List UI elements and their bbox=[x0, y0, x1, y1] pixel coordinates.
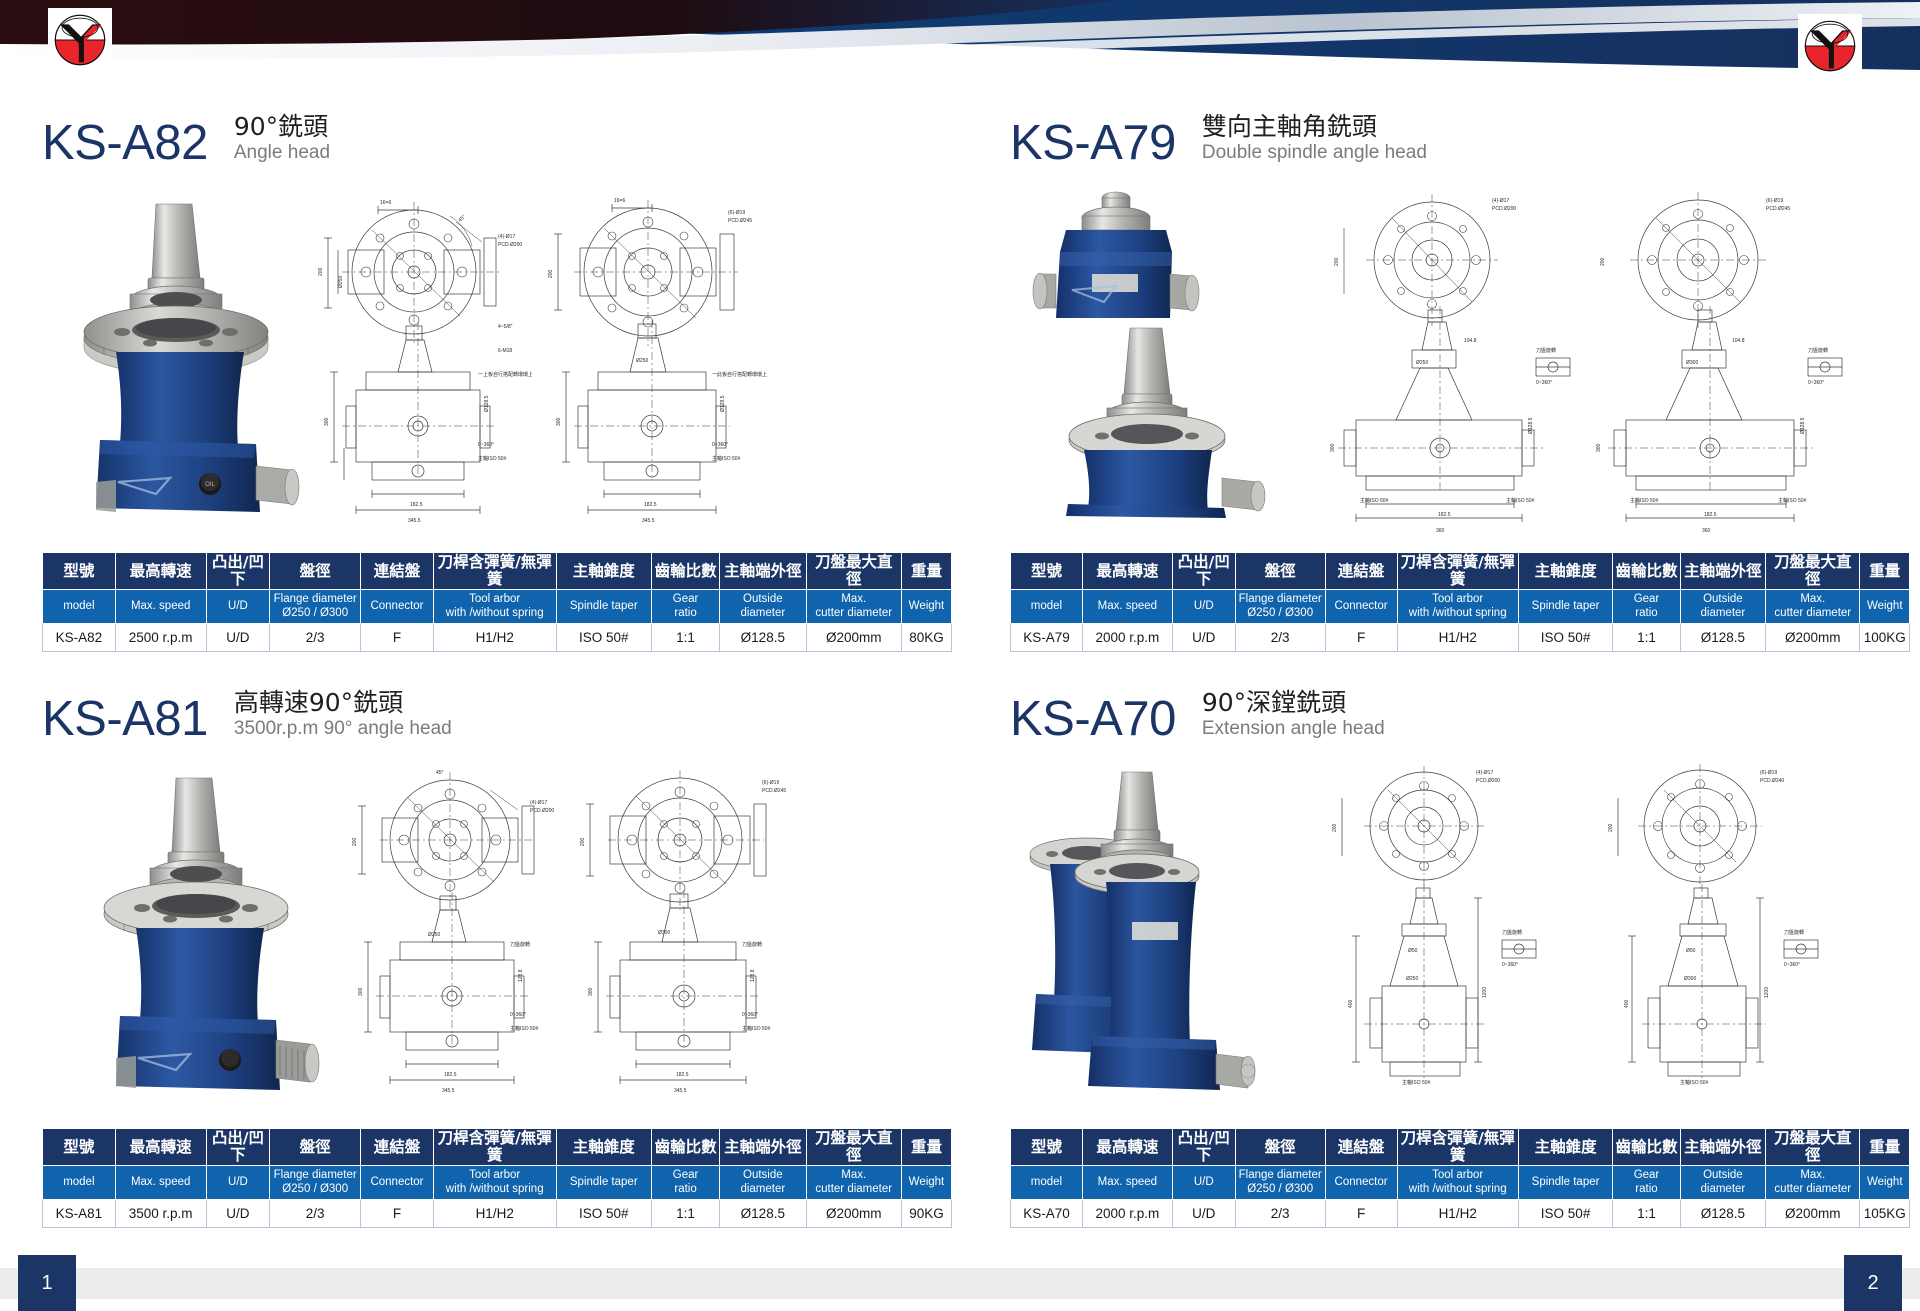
cell-weight: 80KG bbox=[901, 624, 951, 652]
ks-a79-section-view-drawing: (6)-Ø19 PCD.Ø245 200 182.5 360 300 Ø128.… bbox=[1570, 172, 1850, 547]
ks-a81-product-photo bbox=[82, 760, 322, 1105]
footer-grey-band bbox=[0, 1268, 1920, 1299]
cell-model: KS-A79 bbox=[1011, 624, 1083, 652]
company-logo-left bbox=[48, 8, 112, 72]
th-cn-speed: 最高轉速 bbox=[1082, 1129, 1172, 1166]
svg-text:主軸ISO 50#: 主軸ISO 50# bbox=[1360, 497, 1389, 504]
company-logo-right bbox=[1798, 14, 1862, 78]
th-cn-taper: 主軸錐度 bbox=[1518, 1129, 1612, 1166]
svg-text:104.8: 104.8 bbox=[1464, 338, 1477, 344]
th-cn-weight: 重量 bbox=[1860, 553, 1910, 590]
th-cn-gear: 齒輪比數 bbox=[651, 553, 719, 590]
spec-table-ks-a79: 型號 最高轉速 凸出/凹下 盤徑 連結盤 刀桿含彈簧/無彈簧 主軸錐度 齒輪比數… bbox=[1010, 552, 1910, 652]
th-cn-model: 型號 bbox=[1011, 553, 1083, 590]
svg-text:0~360°: 0~360° bbox=[510, 1012, 526, 1018]
svg-text:刀盤旋轉: 刀盤旋轉 bbox=[1536, 347, 1556, 354]
svg-text:200: 200 bbox=[1600, 257, 1606, 266]
svg-text:128.8: 128.8 bbox=[750, 969, 756, 982]
svg-text:0~360°: 0~360° bbox=[1536, 380, 1552, 386]
svg-text:Ø300: Ø300 bbox=[658, 930, 670, 936]
th-cn-ud: 凸出/凹下 bbox=[206, 1129, 270, 1166]
th-en-weight: Weight bbox=[901, 1166, 951, 1200]
th-en-flange: Flange diameterØ250 / Ø300 bbox=[1235, 1166, 1325, 1200]
th-en-cutter: Max.cutter diameter bbox=[1766, 590, 1860, 624]
svg-text:主軸ISO 50#: 主軸ISO 50# bbox=[742, 1025, 771, 1032]
catalog-sheet: KS-A82 90°銑頭 Angle head bbox=[0, 78, 1920, 1255]
cell-arbor: H1/H2 bbox=[433, 624, 556, 652]
title-chinese: 雙向主軸角銑頭 bbox=[1202, 112, 1427, 142]
th-en-cutter: Max.cutter diameter bbox=[806, 1166, 901, 1200]
svg-text:Ø250: Ø250 bbox=[428, 932, 440, 938]
th-en-conn: Connector bbox=[1325, 1166, 1397, 1200]
ks-a79-top-view-drawing: (4)-Ø17 PCD.Ø200 200 182.5 360 300 Ø128.… bbox=[1300, 172, 1580, 547]
cell-gear: 1:1 bbox=[1613, 624, 1680, 652]
svg-text:0~360°: 0~360° bbox=[478, 442, 494, 448]
svg-text:Ø128.5: Ø128.5 bbox=[1528, 417, 1534, 434]
th-cn-flange: 盤徑 bbox=[270, 553, 361, 590]
th-en-ud: U/D bbox=[206, 590, 270, 624]
svg-text:(6)-Ø19: (6)-Ø19 bbox=[1760, 770, 1777, 776]
svg-text:300: 300 bbox=[1596, 443, 1602, 452]
svg-text:Ø300: Ø300 bbox=[1684, 976, 1696, 982]
svg-text:Ø128.5: Ø128.5 bbox=[720, 395, 726, 412]
th-en-speed: Max. speed bbox=[115, 1166, 206, 1200]
svg-text:16=6: 16=6 bbox=[614, 198, 625, 204]
th-en-cutter: Max.cutter diameter bbox=[806, 590, 901, 624]
title-english: Double spindle angle head bbox=[1202, 142, 1427, 165]
th-cn-gear: 齒輪比數 bbox=[1613, 553, 1680, 590]
cell-cutter: Ø200mm bbox=[806, 1200, 901, 1228]
th-cn-outside: 主軸端外徑 bbox=[1680, 1129, 1765, 1166]
svg-text:Ø300: Ø300 bbox=[1686, 360, 1698, 366]
svg-text:200: 200 bbox=[1334, 257, 1340, 266]
cell-outside: Ø128.5 bbox=[1680, 1200, 1765, 1228]
title-chinese: 90°深鏜銑頭 bbox=[1202, 688, 1385, 718]
th-cn-conn: 連結盤 bbox=[1325, 553, 1397, 590]
svg-text:400: 400 bbox=[1348, 999, 1354, 1008]
product-title-ks-a82: KS-A82 90°銑頭 Angle head bbox=[42, 92, 952, 168]
th-cn-cutter: 刀盤最大直徑 bbox=[1766, 553, 1860, 590]
svg-text:200: 200 bbox=[1608, 823, 1614, 832]
product-block-ks-a81: KS-A81 高轉速90°銑頭 3500r.p.m 90° angle head bbox=[42, 668, 952, 1228]
th-en-outside: Outsidediameter bbox=[720, 590, 806, 624]
svg-text:(4)-Ø17: (4)-Ø17 bbox=[530, 800, 547, 806]
svg-text:刀盤旋轉: 刀盤旋轉 bbox=[1784, 929, 1804, 936]
svg-text:Ø128.5: Ø128.5 bbox=[484, 395, 490, 412]
product-block-ks-a79: KS-A79 雙向主軸角銑頭 Double spindle angle head bbox=[1010, 92, 1910, 652]
svg-text:4~5/8": 4~5/8" bbox=[498, 324, 513, 330]
cell-ud: U/D bbox=[1172, 1200, 1235, 1228]
th-en-speed: Max. speed bbox=[115, 590, 206, 624]
th-en-weight: Weight bbox=[1860, 590, 1910, 624]
title-english: Angle head bbox=[234, 142, 330, 165]
cell-model: KS-A81 bbox=[43, 1200, 116, 1228]
cell-weight: 90KG bbox=[901, 1200, 951, 1228]
svg-text:300: 300 bbox=[358, 987, 364, 996]
cell-arbor: H1/H2 bbox=[433, 1200, 556, 1228]
th-cn-taper: 主軸錐度 bbox=[556, 553, 651, 590]
th-cn-outside: 主軸端外徑 bbox=[720, 1129, 806, 1166]
svg-text:Ø250: Ø250 bbox=[1416, 360, 1428, 366]
cell-gear: 1:1 bbox=[651, 624, 719, 652]
cell-model: KS-A82 bbox=[43, 624, 116, 652]
model-name: KS-A79 bbox=[1010, 119, 1176, 168]
cell-cutter: Ø200mm bbox=[1766, 624, 1860, 652]
table-row: KS-A70 2000 r.p.m U/D 2/3 F H1/H2 ISO 50… bbox=[1011, 1200, 1910, 1228]
ks-a70-section-view-drawing: (6)-Ø19 PCD.Ø240 200 400 1200 刀盤旋轉 0~360… bbox=[1570, 748, 1850, 1123]
th-cn-arbor: 刀桿含彈簧/無彈簧 bbox=[433, 553, 556, 590]
table-header-row-en: model Max. speed U/D Flange diameterØ250… bbox=[1011, 590, 1910, 624]
th-en-outside: Outsidediameter bbox=[1680, 1166, 1765, 1200]
cell-taper: ISO 50# bbox=[556, 1200, 651, 1228]
th-en-ud: U/D bbox=[206, 1166, 270, 1200]
th-cn-gear: 齒輪比數 bbox=[1613, 1129, 1680, 1166]
ks-a82-top-view-drawing: 16=6 (4)-Ø17 PCD.Ø200 45° 200 Ø250 182.5… bbox=[302, 176, 532, 551]
svg-text:一上板自行搭配轉環環上: 一上板自行搭配轉環環上 bbox=[478, 371, 532, 378]
visual-area-ks-a70: (4)-Ø17 PCD.Ø200 200 400 1200 刀盤旋轉 0~360… bbox=[1010, 748, 1910, 1128]
th-cn-ud: 凸出/凹下 bbox=[206, 553, 270, 590]
th-cn-cutter: 刀盤最大直徑 bbox=[1766, 1129, 1860, 1166]
th-en-speed: Max. speed bbox=[1082, 1166, 1172, 1200]
svg-text:182.5: 182.5 bbox=[410, 502, 423, 508]
svg-text:主軸ISO 50#: 主軸ISO 50# bbox=[1778, 497, 1807, 504]
table-row: KS-A82 2500 r.p.m U/D 2/3 F H1/H2 ISO 50… bbox=[43, 624, 952, 652]
model-name: KS-A82 bbox=[42, 119, 208, 168]
svg-text:PCD.Ø240: PCD.Ø240 bbox=[1760, 778, 1784, 784]
cell-outside: Ø128.5 bbox=[1680, 624, 1765, 652]
svg-text:(4)-Ø17: (4)-Ø17 bbox=[498, 234, 515, 240]
cell-cutter: Ø200mm bbox=[1766, 1200, 1860, 1228]
th-en-flange: Flange diameterØ250 / Ø300 bbox=[270, 590, 361, 624]
ks-a81-top-view-drawing: 45° (4)-Ø17 PCD.Ø200 200 182.5 345.5 300… bbox=[332, 748, 572, 1123]
th-en-taper: Spindle taper bbox=[556, 1166, 651, 1200]
svg-text:345.5: 345.5 bbox=[442, 1088, 455, 1094]
cell-arbor: H1/H2 bbox=[1397, 624, 1518, 652]
th-cn-taper: 主軸錐度 bbox=[1518, 553, 1612, 590]
th-cn-taper: 主軸錐度 bbox=[556, 1129, 651, 1166]
svg-text:Ø50: Ø50 bbox=[1408, 948, 1418, 954]
svg-text:182.5: 182.5 bbox=[1438, 512, 1451, 518]
th-en-flange: Flange diameterØ250 / Ø300 bbox=[270, 1166, 361, 1200]
th-en-gear: Gearratio bbox=[1613, 1166, 1680, 1200]
th-en-flange: Flange diameterØ250 / Ø300 bbox=[1235, 590, 1325, 624]
th-cn-ud: 凸出/凹下 bbox=[1172, 1129, 1235, 1166]
cell-speed: 2500 r.p.m bbox=[115, 624, 206, 652]
cell-taper: ISO 50# bbox=[1518, 1200, 1612, 1228]
th-cn-weight: 重量 bbox=[901, 1129, 951, 1166]
th-en-ud: U/D bbox=[1172, 1166, 1235, 1200]
svg-text:(4)-Ø17: (4)-Ø17 bbox=[1476, 770, 1493, 776]
svg-text:182.5: 182.5 bbox=[676, 1072, 689, 1078]
svg-text:300: 300 bbox=[1330, 443, 1336, 452]
table-header-row-cn: 型號 最高轉速 凸出/凹下 盤徑 連結盤 刀桿含彈簧/無彈簧 主軸錐度 齒輪比數… bbox=[1011, 553, 1910, 590]
cell-gear: 1:1 bbox=[651, 1200, 719, 1228]
svg-text:一此板自行搭配轉環環上: 一此板自行搭配轉環環上 bbox=[712, 371, 767, 378]
svg-text:PCD.Ø200: PCD.Ø200 bbox=[1492, 206, 1516, 212]
th-cn-model: 型號 bbox=[1011, 1129, 1083, 1166]
cell-taper: ISO 50# bbox=[1518, 624, 1612, 652]
svg-text:PCD.Ø200: PCD.Ø200 bbox=[498, 242, 522, 248]
th-cn-speed: 最高轉速 bbox=[115, 553, 206, 590]
svg-text:Ø128.5: Ø128.5 bbox=[1800, 417, 1806, 434]
product-title-ks-a70: KS-A70 90°深鏜銑頭 Extension angle head bbox=[1010, 668, 1910, 744]
cell-speed: 2000 r.p.m bbox=[1082, 624, 1172, 652]
svg-text:200: 200 bbox=[548, 269, 554, 278]
th-cn-flange: 盤徑 bbox=[270, 1129, 361, 1166]
ks-a70-top-view-drawing: (4)-Ø17 PCD.Ø200 200 400 1200 刀盤旋轉 0~360… bbox=[1290, 748, 1570, 1123]
th-cn-flange: 盤徑 bbox=[1235, 553, 1325, 590]
cell-conn: F bbox=[1325, 624, 1397, 652]
svg-text:刀盤旋轉: 刀盤旋轉 bbox=[742, 941, 762, 948]
th-en-gear: Gearratio bbox=[651, 590, 719, 624]
svg-text:400: 400 bbox=[1624, 999, 1630, 1008]
svg-text:16=6: 16=6 bbox=[380, 200, 391, 206]
th-en-conn: Connector bbox=[361, 1166, 434, 1200]
cell-taper: ISO 50# bbox=[556, 624, 651, 652]
svg-text:182.5: 182.5 bbox=[444, 1072, 457, 1078]
cell-weight: 100KG bbox=[1860, 624, 1910, 652]
th-en-weight: Weight bbox=[1860, 1166, 1910, 1200]
th-en-ud: U/D bbox=[1172, 590, 1235, 624]
th-en-arbor: Tool arborwith /without spring bbox=[433, 590, 556, 624]
th-en-conn: Connector bbox=[1325, 590, 1397, 624]
th-cn-arbor: 刀桿含彈簧/無彈簧 bbox=[1397, 553, 1518, 590]
table-row: KS-A81 3500 r.p.m U/D 2/3 F H1/H2 ISO 50… bbox=[43, 1200, 952, 1228]
svg-text:(4)-Ø17: (4)-Ø17 bbox=[1492, 198, 1509, 204]
th-cn-cutter: 刀盤最大直徑 bbox=[806, 1129, 901, 1166]
th-en-weight: Weight bbox=[901, 590, 951, 624]
th-en-gear: Gearratio bbox=[651, 1166, 719, 1200]
th-cn-speed: 最高轉速 bbox=[115, 1129, 206, 1166]
th-en-taper: Spindle taper bbox=[556, 590, 651, 624]
th-en-taper: Spindle taper bbox=[1518, 590, 1612, 624]
svg-text:182.5: 182.5 bbox=[1704, 512, 1717, 518]
cell-model: KS-A70 bbox=[1011, 1200, 1083, 1228]
table-header-row-en: model Max. speed U/D Flange diameterØ250… bbox=[1011, 1166, 1910, 1200]
title-english: 3500r.p.m 90° angle head bbox=[234, 718, 452, 741]
model-name: KS-A70 bbox=[1010, 695, 1176, 744]
svg-text:刀盤旋轉: 刀盤旋轉 bbox=[1502, 929, 1522, 936]
cell-ud: U/D bbox=[1172, 624, 1235, 652]
svg-text:300: 300 bbox=[556, 417, 562, 426]
th-cn-model: 型號 bbox=[43, 553, 116, 590]
svg-text:主軸ISO 50#: 主軸ISO 50# bbox=[510, 1025, 539, 1032]
svg-text:300: 300 bbox=[588, 987, 594, 996]
svg-text:345.5: 345.5 bbox=[642, 518, 655, 524]
svg-text:200: 200 bbox=[352, 837, 358, 846]
table-row: KS-A79 2000 r.p.m U/D 2/3 F H1/H2 ISO 50… bbox=[1011, 624, 1910, 652]
th-en-arbor: Tool arborwith /without spring bbox=[433, 1166, 556, 1200]
svg-text:128.8: 128.8 bbox=[518, 969, 524, 982]
page-number-right: 2 bbox=[1844, 1255, 1902, 1311]
cell-speed: 3500 r.p.m bbox=[115, 1200, 206, 1228]
cell-gear: 1:1 bbox=[1613, 1200, 1680, 1228]
svg-text:300: 300 bbox=[324, 417, 330, 426]
cell-cutter: Ø200mm bbox=[806, 624, 901, 652]
svg-text:104.8: 104.8 bbox=[1732, 338, 1745, 344]
spec-table-ks-a81: 型號 最高轉速 凸出/凹下 盤徑 連結盤 刀桿含彈簧/無彈簧 主軸錐度 齒輪比數… bbox=[42, 1128, 952, 1228]
svg-text:PCD.Ø245: PCD.Ø245 bbox=[1766, 206, 1790, 212]
th-cn-weight: 重量 bbox=[901, 553, 951, 590]
cell-speed: 2000 r.p.m bbox=[1082, 1200, 1172, 1228]
th-en-gear: Gearratio bbox=[1613, 590, 1680, 624]
svg-text:200: 200 bbox=[580, 837, 586, 846]
svg-text:45°: 45° bbox=[436, 770, 444, 776]
svg-text:360: 360 bbox=[1436, 528, 1445, 534]
svg-text:6-M18: 6-M18 bbox=[498, 348, 512, 354]
svg-text:主軸ISO 50#: 主軸ISO 50# bbox=[712, 455, 741, 462]
cell-ud: U/D bbox=[206, 1200, 270, 1228]
cell-outside: Ø128.5 bbox=[720, 1200, 806, 1228]
page-number-left: 1 bbox=[18, 1255, 76, 1311]
th-en-model: model bbox=[1011, 1166, 1083, 1200]
ks-a70-product-photo bbox=[1010, 754, 1260, 1099]
svg-text:刀盤旋轉: 刀盤旋轉 bbox=[510, 941, 530, 948]
th-cn-speed: 最高轉速 bbox=[1082, 553, 1172, 590]
product-title-ks-a81: KS-A81 高轉速90°銑頭 3500r.p.m 90° angle head bbox=[42, 668, 952, 744]
ks-a82-product-photo: OIL bbox=[60, 182, 300, 527]
title-english: Extension angle head bbox=[1202, 718, 1385, 741]
cell-conn: F bbox=[1325, 1200, 1397, 1228]
th-cn-ud: 凸出/凹下 bbox=[1172, 553, 1235, 590]
table-header-row-cn: 型號 最高轉速 凸出/凹下 盤徑 連結盤 刀桿含彈簧/無彈簧 主軸錐度 齒輪比數… bbox=[43, 553, 952, 590]
svg-text:Ø250: Ø250 bbox=[338, 276, 344, 288]
th-en-speed: Max. speed bbox=[1082, 590, 1172, 624]
spec-table-ks-a70: 型號 最高轉速 凸出/凹下 盤徑 連結盤 刀桿含彈簧/無彈簧 主軸錐度 齒輪比數… bbox=[1010, 1128, 1910, 1228]
logo-y-mark-icon bbox=[1802, 18, 1858, 74]
cell-ud: U/D bbox=[206, 624, 270, 652]
cell-conn: F bbox=[361, 624, 434, 652]
cell-arbor: H1/H2 bbox=[1397, 1200, 1518, 1228]
svg-text:345.5: 345.5 bbox=[408, 518, 421, 524]
svg-text:0~360°: 0~360° bbox=[1784, 962, 1800, 968]
cell-outside: Ø128.5 bbox=[720, 624, 806, 652]
th-cn-weight: 重量 bbox=[1860, 1129, 1910, 1166]
svg-text:Ø250: Ø250 bbox=[1406, 976, 1418, 982]
th-en-taper: Spindle taper bbox=[1518, 1166, 1612, 1200]
th-en-model: model bbox=[43, 1166, 116, 1200]
page-header-banner bbox=[0, 0, 1920, 78]
svg-text:主軸ISO 50#: 主軸ISO 50# bbox=[478, 455, 507, 462]
svg-text:Ø250: Ø250 bbox=[636, 358, 648, 364]
svg-text:PCD.Ø200: PCD.Ø200 bbox=[530, 808, 554, 814]
th-en-conn: Connector bbox=[361, 590, 434, 624]
ks-a79-product-photo bbox=[1020, 178, 1270, 523]
svg-text:200: 200 bbox=[1332, 823, 1338, 832]
table-header-row-en: model Max. speed U/D Flange diameterØ250… bbox=[43, 590, 952, 624]
svg-text:182.5: 182.5 bbox=[644, 502, 657, 508]
svg-text:(6)-Ø19: (6)-Ø19 bbox=[1766, 198, 1783, 204]
cell-flange: 2/3 bbox=[270, 624, 361, 652]
th-cn-gear: 齒輪比數 bbox=[651, 1129, 719, 1166]
cell-flange: 2/3 bbox=[1235, 1200, 1325, 1228]
svg-text:主軸ISO 50#: 主軸ISO 50# bbox=[1630, 497, 1659, 504]
th-cn-conn: 連結盤 bbox=[1325, 1129, 1397, 1166]
th-cn-outside: 主軸端外徑 bbox=[1680, 553, 1765, 590]
svg-text:0~360°: 0~360° bbox=[742, 1012, 758, 1018]
svg-text:Ø50: Ø50 bbox=[1686, 948, 1696, 954]
svg-text:(6)-Ø19: (6)-Ø19 bbox=[728, 210, 745, 216]
svg-text:主軸ISO 50#: 主軸ISO 50# bbox=[1680, 1079, 1709, 1086]
svg-text:45°: 45° bbox=[457, 214, 467, 224]
cell-flange: 2/3 bbox=[1235, 624, 1325, 652]
product-block-ks-a70: KS-A70 90°深鏜銑頭 Extension angle head bbox=[1010, 668, 1910, 1228]
ks-a82-section-view-drawing: 16=6 (6)-Ø19 PCD.Ø245 200 182.5 345.5 30… bbox=[532, 176, 772, 551]
model-name: KS-A81 bbox=[42, 695, 208, 744]
spec-table-ks-a82: 型號 最高轉速 凸出/凹下 盤徑 連結盤 刀桿含彈簧/無彈簧 主軸錐度 齒輪比數… bbox=[42, 552, 952, 652]
svg-text:PCD.Ø245: PCD.Ø245 bbox=[762, 788, 786, 794]
th-cn-model: 型號 bbox=[43, 1129, 116, 1166]
visual-area-ks-a81: 45° (4)-Ø17 PCD.Ø200 200 182.5 345.5 300… bbox=[42, 748, 952, 1128]
th-cn-conn: 連結盤 bbox=[361, 1129, 434, 1166]
ks-a81-section-view-drawing: (6)-Ø19 PCD.Ø245 200 182.5 345.5 300 128… bbox=[562, 748, 802, 1123]
svg-text:PCD.Ø200: PCD.Ø200 bbox=[1476, 778, 1500, 784]
table-header-row-cn: 型號 最高轉速 凸出/凹下 盤徑 連結盤 刀桿含彈簧/無彈簧 主軸錐度 齒輪比數… bbox=[43, 1129, 952, 1166]
svg-text:PCD.Ø245: PCD.Ø245 bbox=[728, 218, 752, 224]
th-en-outside: Outsidediameter bbox=[720, 1166, 806, 1200]
th-en-model: model bbox=[43, 590, 116, 624]
th-en-arbor: Tool arborwith /without spring bbox=[1397, 1166, 1518, 1200]
table-header-row-cn: 型號 最高轉速 凸出/凹下 盤徑 連結盤 刀桿含彈簧/無彈簧 主軸錐度 齒輪比數… bbox=[1011, 1129, 1910, 1166]
th-en-outside: Outsidediameter bbox=[1680, 590, 1765, 624]
svg-text:刀盤旋轉: 刀盤旋轉 bbox=[1808, 347, 1828, 354]
visual-area-ks-a82: OIL bbox=[42, 172, 952, 552]
th-cn-arbor: 刀桿含彈簧/無彈簧 bbox=[433, 1129, 556, 1166]
svg-text:360: 360 bbox=[1702, 528, 1711, 534]
logo-y-mark-icon bbox=[52, 12, 108, 68]
table-header-row-en: model Max. speed U/D Flange diameterØ250… bbox=[43, 1166, 952, 1200]
th-cn-conn: 連結盤 bbox=[361, 553, 434, 590]
th-en-cutter: Max.cutter diameter bbox=[1766, 1166, 1860, 1200]
product-title-ks-a79: KS-A79 雙向主軸角銑頭 Double spindle angle head bbox=[1010, 92, 1910, 168]
svg-text:200: 200 bbox=[318, 267, 324, 276]
th-en-arbor: Tool arborwith /without spring bbox=[1397, 590, 1518, 624]
title-chinese: 90°銑頭 bbox=[234, 112, 330, 142]
th-cn-flange: 盤徑 bbox=[1235, 1129, 1325, 1166]
th-en-model: model bbox=[1011, 590, 1083, 624]
svg-text:345.5: 345.5 bbox=[674, 1088, 687, 1094]
th-cn-arbor: 刀桿含彈簧/無彈簧 bbox=[1397, 1129, 1518, 1166]
th-cn-cutter: 刀盤最大直徑 bbox=[806, 553, 901, 590]
svg-text:OIL: OIL bbox=[205, 482, 215, 488]
svg-text:0~360°: 0~360° bbox=[1808, 380, 1824, 386]
cell-weight: 105KG bbox=[1860, 1200, 1910, 1228]
title-chinese: 高轉速90°銑頭 bbox=[234, 688, 452, 718]
svg-text:主軸ISO 50#: 主軸ISO 50# bbox=[1506, 497, 1535, 504]
svg-text:0~360°: 0~360° bbox=[1502, 962, 1518, 968]
cell-flange: 2/3 bbox=[270, 1200, 361, 1228]
svg-text:1200: 1200 bbox=[1482, 987, 1488, 998]
svg-text:主軸ISO 50#: 主軸ISO 50# bbox=[1402, 1079, 1431, 1086]
svg-text:(6)-Ø19: (6)-Ø19 bbox=[762, 780, 779, 786]
th-cn-outside: 主軸端外徑 bbox=[720, 553, 806, 590]
visual-area-ks-a79: (4)-Ø17 PCD.Ø200 200 182.5 360 300 Ø128.… bbox=[1010, 172, 1910, 552]
svg-text:1200: 1200 bbox=[1764, 987, 1770, 998]
cell-conn: F bbox=[361, 1200, 434, 1228]
product-block-ks-a82: KS-A82 90°銑頭 Angle head bbox=[42, 92, 952, 652]
svg-text:0~360°: 0~360° bbox=[712, 442, 728, 448]
